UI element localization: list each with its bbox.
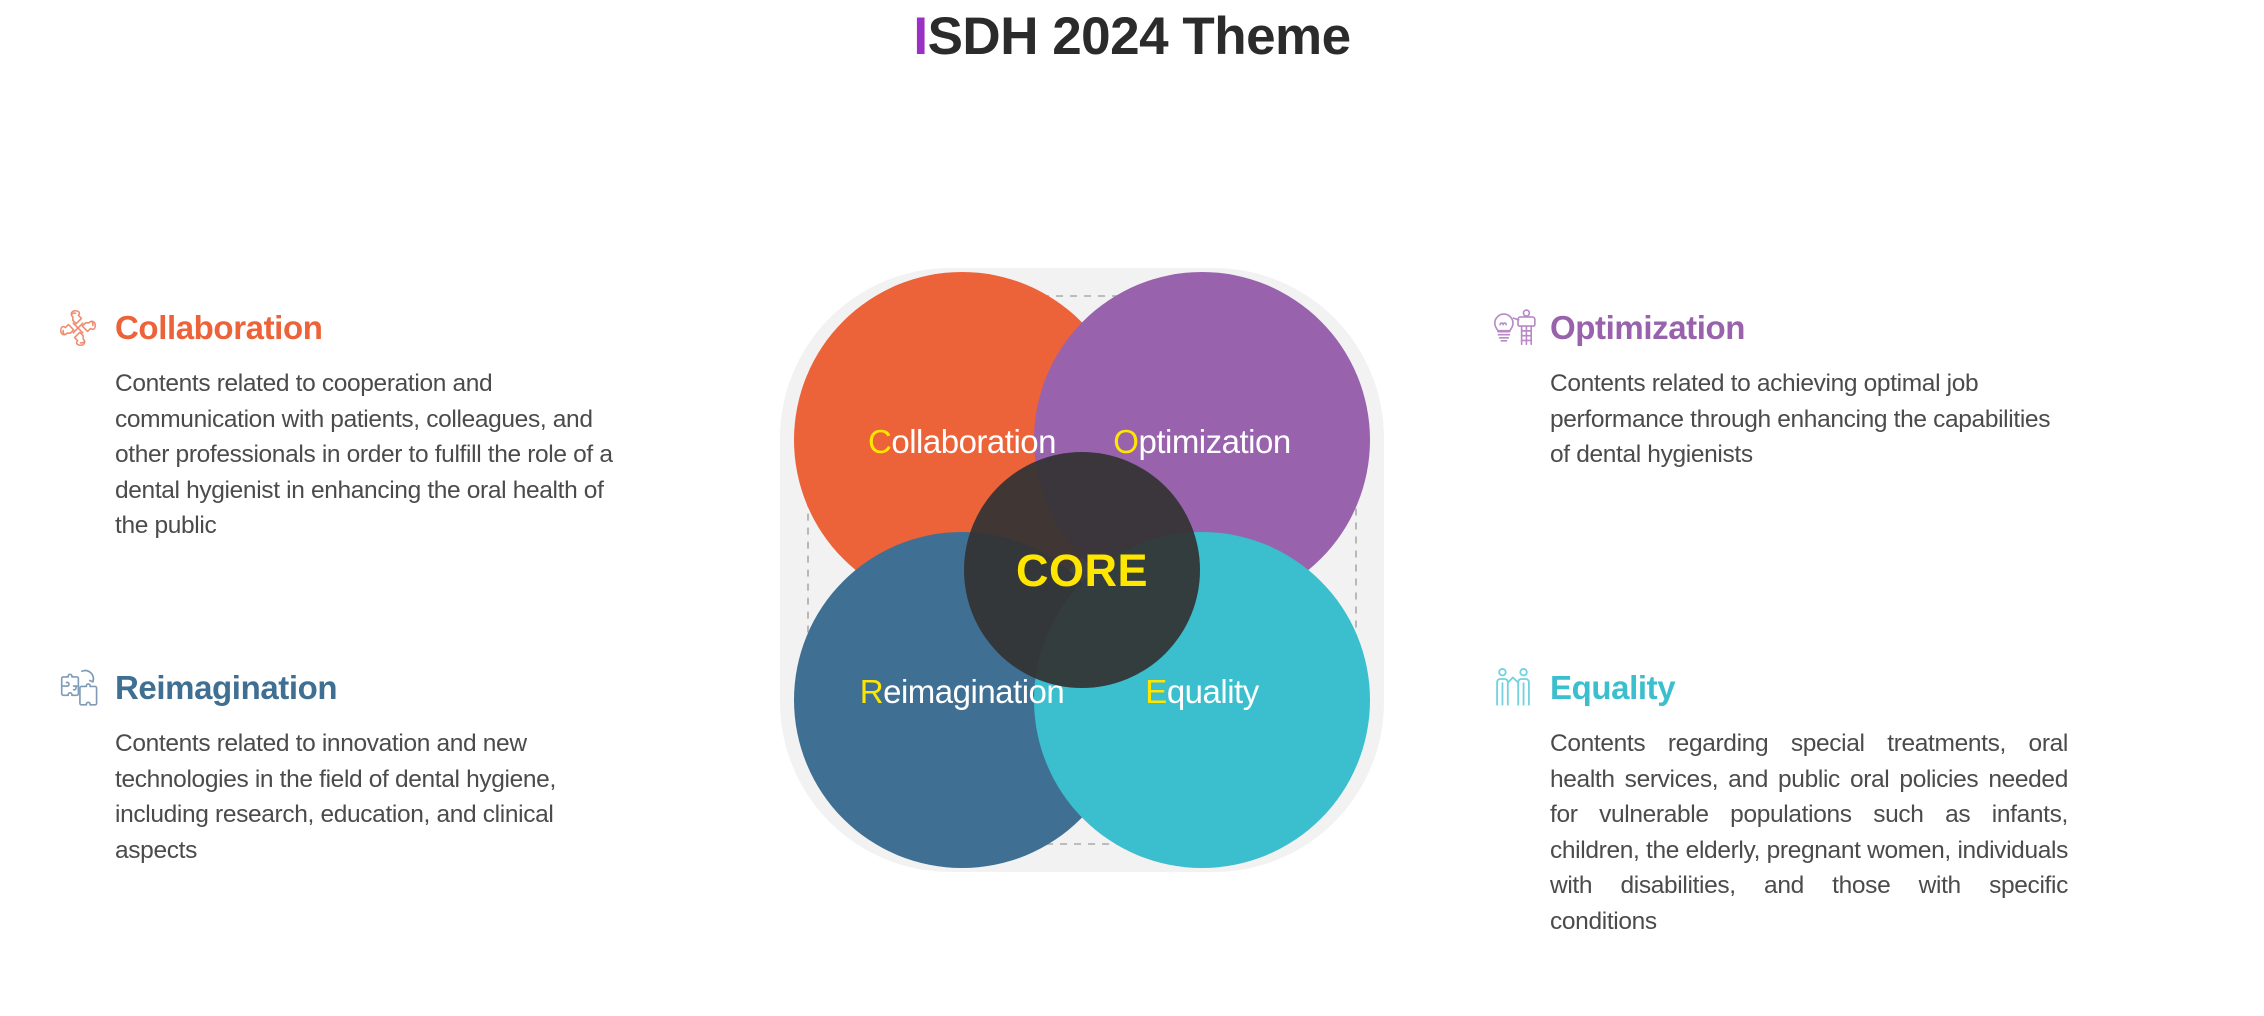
description-title-equality: Equality (1550, 669, 1675, 707)
description-body-optimization: Contents related to achieving optimal jo… (1490, 366, 2068, 473)
two-people-icon (1490, 665, 1536, 711)
description-header-collaboration: Collaboration (55, 300, 695, 356)
circle-label-collaboration-rest: ollaboration (891, 423, 1056, 460)
puzzle-pieces-icon (55, 665, 101, 711)
circle-label-reimagination-first: R (860, 673, 883, 710)
circle-label-collaboration-first: C (868, 423, 891, 460)
description-body-reimagination: Contents related to innovation and new t… (55, 726, 633, 868)
circle-label-equality-first: E (1145, 673, 1167, 710)
description-header-equality: Equality (1490, 660, 2130, 716)
core-circle-label: CORE (1016, 545, 1148, 596)
page-title: ISDH 2024 Theme (0, 6, 2264, 67)
circle-label-equality: Equality (1145, 673, 1259, 710)
description-body-equality: Contents regarding special treatments, o… (1490, 726, 2068, 939)
description-title-reimagination: Reimagination (115, 669, 337, 707)
description-title-collaboration: Collaboration (115, 309, 322, 347)
circle-label-collaboration: Collaboration (868, 423, 1056, 460)
lightbulb-person-icon (1490, 305, 1536, 351)
teamwork-hands-icon (55, 305, 101, 351)
description-optimization: Optimization Contents related to achievi… (1490, 300, 2130, 473)
description-body-collaboration: Contents related to cooperation and comm… (55, 366, 633, 544)
circle-label-reimagination: Reimagination (860, 673, 1064, 710)
circle-label-optimization-first: O (1113, 423, 1138, 460)
description-title-optimization: Optimization (1550, 309, 1745, 347)
page-title-accent-letter: I (913, 7, 927, 66)
circle-label-equality-rest: quality (1167, 673, 1260, 710)
description-header-reimagination: Reimagination (55, 660, 695, 716)
page-title-rest: SDH 2024 Theme (928, 7, 1351, 66)
core-venn-diagram: Collaboration Optimization Reimagination… (762, 240, 1402, 900)
circle-label-optimization-rest: ptimization (1138, 423, 1290, 460)
description-reimagination: Reimagination Contents related to innova… (55, 660, 695, 868)
description-equality: Equality Contents regarding special trea… (1490, 660, 2130, 939)
description-header-optimization: Optimization (1490, 300, 2130, 356)
circle-label-optimization: Optimization (1113, 423, 1290, 460)
description-collaboration: Collaboration Contents related to cooper… (55, 300, 695, 544)
